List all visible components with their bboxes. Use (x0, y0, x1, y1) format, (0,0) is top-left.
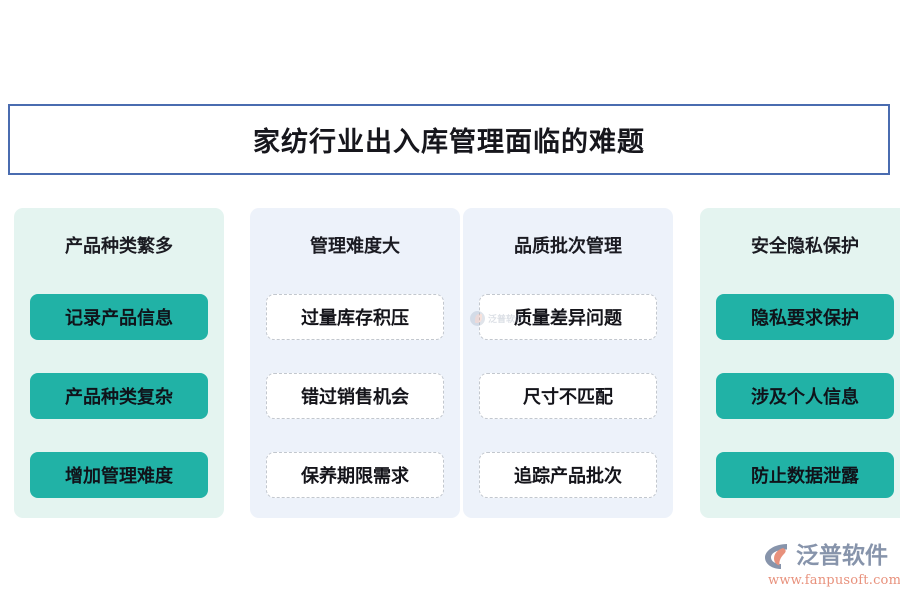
page-title-banner: 家纺行业出入库管理面临的难题 (8, 104, 890, 175)
column-4-item-3[interactable]: 防止数据泄露 (716, 452, 894, 498)
column-4-item-1[interactable]: 隐私要求保护 (716, 294, 894, 340)
column-panel-4: 安全隐私保护 隐私要求保护 涉及个人信息 防止数据泄露 (700, 208, 900, 518)
brand-logo: 泛普软件 www.fanpusoft.com (762, 540, 896, 592)
brand-swoosh-logo-icon (762, 540, 794, 572)
column-3-item-3[interactable]: 追踪产品批次 (479, 452, 657, 498)
column-3-item-1[interactable]: 质量差异问题 (479, 294, 657, 340)
column-1-item-3[interactable]: 增加管理难度 (30, 452, 208, 498)
column-panel-3: 品质批次管理 质量差异问题 尺寸不匹配 追踪产品批次 (463, 208, 673, 518)
column-1-item-1[interactable]: 记录产品信息 (30, 294, 208, 340)
column-2-item-3[interactable]: 保养期限需求 (266, 452, 444, 498)
column-header-1: 产品种类繁多 (14, 232, 224, 258)
column-2-item-2[interactable]: 错过销售机会 (266, 373, 444, 419)
brand-name: 泛普软件 (796, 540, 888, 572)
column-header-2: 管理难度大 (250, 232, 460, 258)
problem-columns: 产品种类繁多 记录产品信息 产品种类复杂 增加管理难度 管理难度大 过量库存积压… (0, 208, 900, 518)
column-panel-2: 管理难度大 过量库存积压 错过销售机会 保养期限需求 (250, 208, 460, 518)
column-2-item-1[interactable]: 过量库存积压 (266, 294, 444, 340)
column-panel-1: 产品种类繁多 记录产品信息 产品种类复杂 增加管理难度 (14, 208, 224, 518)
column-1-item-2[interactable]: 产品种类复杂 (30, 373, 208, 419)
column-header-4: 安全隐私保护 (700, 232, 900, 258)
column-4-item-2[interactable]: 涉及个人信息 (716, 373, 894, 419)
brand-logo-row: 泛普软件 (762, 540, 896, 572)
column-header-3: 品质批次管理 (463, 232, 673, 258)
page-title: 家纺行业出入库管理面临的难题 (253, 120, 645, 159)
brand-url: www.fanpusoft.com (768, 573, 896, 588)
column-3-item-2[interactable]: 尺寸不匹配 (479, 373, 657, 419)
